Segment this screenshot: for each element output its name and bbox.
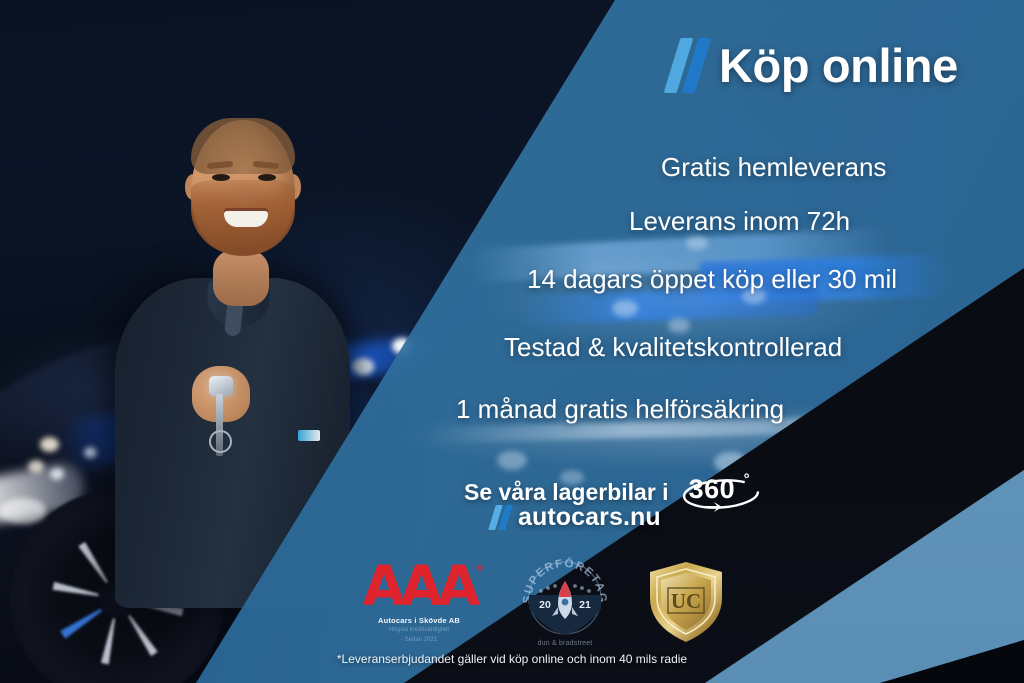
uc-mark: UC [671,589,701,613]
aaa-letters: AAA [355,559,483,614]
bokeh-light [28,460,44,473]
feature-item: Leverans inom 72h [629,206,850,237]
header: Köp online [672,38,958,93]
360-badge-icon: 360 ° [681,469,761,515]
bokeh-light [50,468,64,480]
person-eye-right [258,174,276,181]
360-badge-degree: ° [744,471,750,488]
superforetag-seal: SUPERFÖRETAG 20 21 dun & bradstreet [515,557,615,647]
trust-badges-row: AAA ® Autocars i Skövde AB Högsta kredit… [355,556,725,648]
feature-item: 14 dagars öppet köp eller 30 mil [527,264,897,295]
page-title: Köp online [719,38,958,93]
bokeh-light [497,451,527,470]
person-neck [213,250,269,306]
bokeh-light [40,437,59,452]
person-smile [224,211,268,227]
bokeh-light [0,498,46,524]
person-nose [235,180,253,206]
superforetag-source: dun & bradstreet [515,640,615,647]
car-key-fob [209,376,233,396]
website-url[interactable]: autocars.nu [518,503,661,532]
person-chest-logo [298,430,320,441]
bokeh-light [612,300,638,317]
uc-logo: UC [647,560,725,644]
person-eye-left [212,174,230,181]
superforetag-year-left: 20 [539,599,551,611]
advertisement-banner: Köp online Gratis hemleverans Leverans i… [0,0,1024,683]
aaa-caption-line1: Högsta kreditvärdighet [355,626,483,635]
feature-item: 1 månad gratis helförsäkring [456,394,784,425]
bokeh-light [668,318,690,333]
aaa-logo: AAA ® Autocars i Skövde AB Högsta kredit… [355,559,483,645]
feature-item: Gratis hemleverans [661,152,886,183]
brand-slashes-icon [672,38,703,93]
cta-text: Se våra lagerbilar i [464,479,669,506]
aaa-registered-mark: ® [476,563,483,573]
bokeh-light [686,236,708,250]
footnote-disclaimer: *Leveranserbjudandet gäller vid köp onli… [0,652,1024,666]
car-key-ring [209,430,232,453]
feature-item: Testad & kvalitetskontrollerad [504,332,842,363]
website-url-line[interactable]: autocars.nu [492,503,661,532]
superforetag-year-right: 21 [579,599,591,611]
360-badge-number: 360 [689,474,736,505]
brand-slashes-small-icon [492,505,509,530]
aaa-caption-line2: - Sedan 2021 [355,636,483,645]
